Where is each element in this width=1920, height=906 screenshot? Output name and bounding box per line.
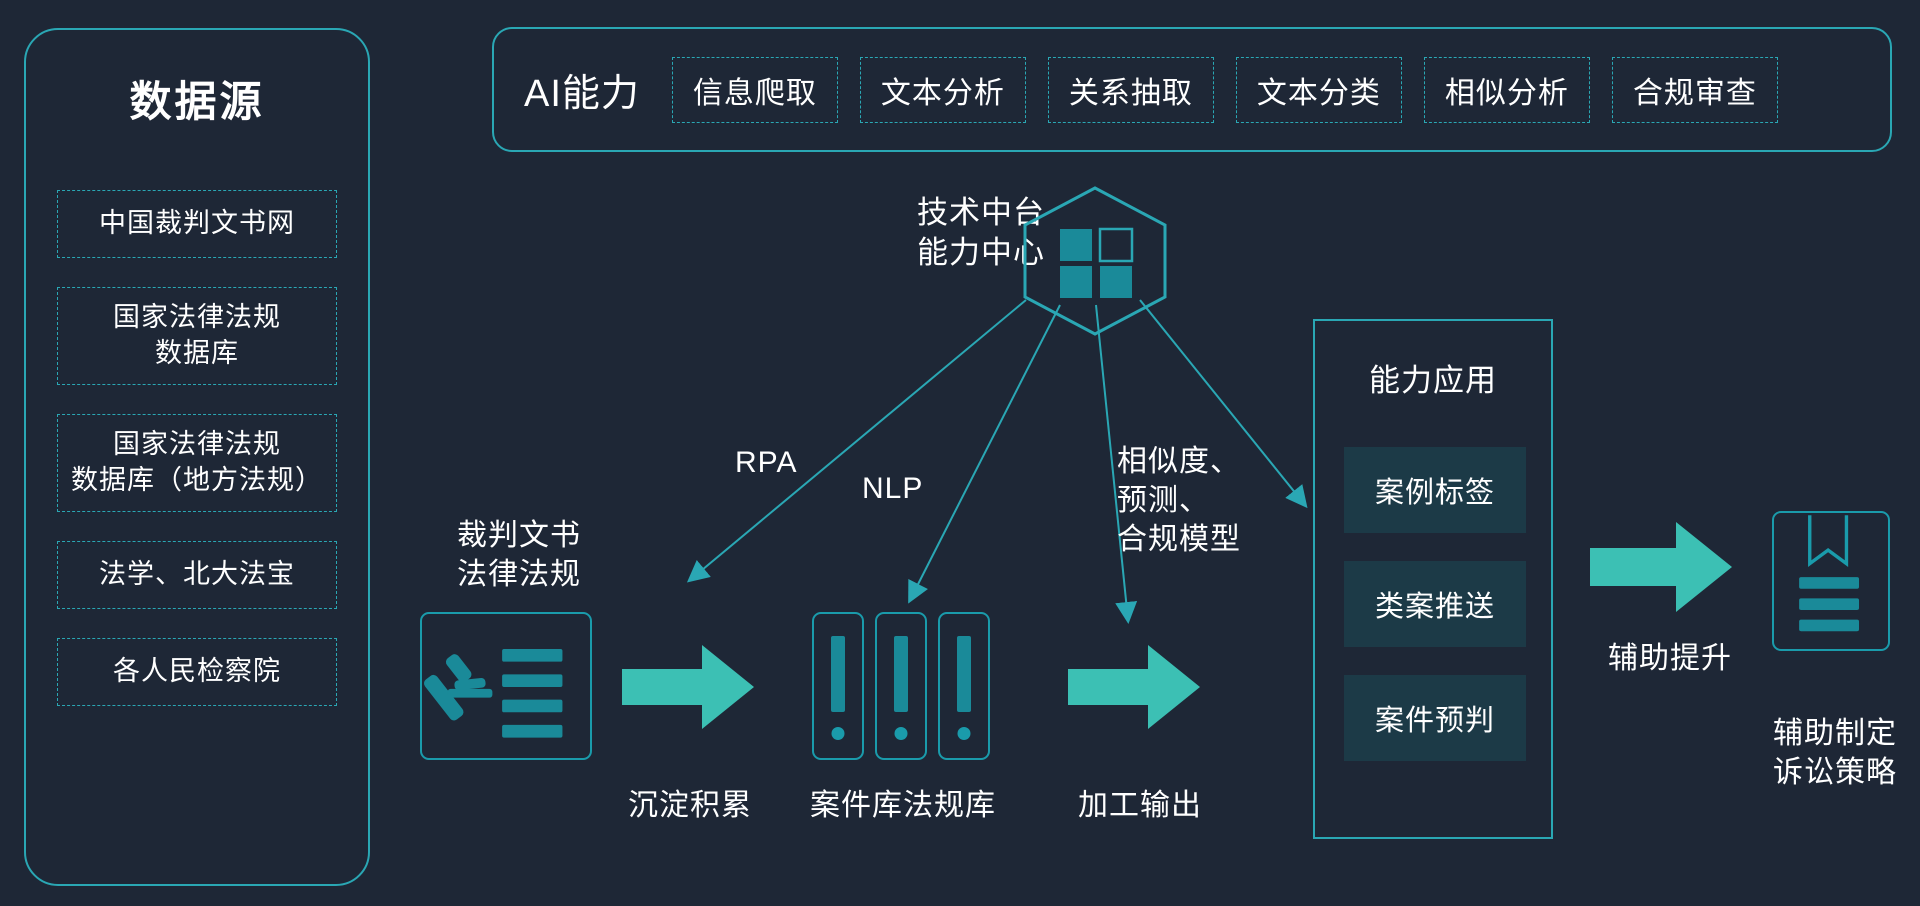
app-card-similar-case-push[interactable]: 类案推送 bbox=[1344, 561, 1526, 647]
right-arrow-icon bbox=[622, 645, 754, 729]
ai-chip-compliance-review[interactable]: 合规审查 bbox=[1612, 57, 1778, 123]
data-source-item[interactable]: 各人民检察院 bbox=[57, 638, 337, 706]
connector-label-rpa: RPA bbox=[735, 443, 797, 482]
bookmarked-document-icon bbox=[1772, 511, 1890, 651]
ai-capability-title: AI能力 bbox=[524, 62, 640, 117]
data-source-title: 数据源 bbox=[26, 68, 368, 129]
server-unit bbox=[875, 612, 927, 760]
data-source-list: 中国裁判文书网 国家法律法规数据库 国家法律法规数据库（地方法规） 法学、北大法… bbox=[57, 190, 337, 735]
capability-application-panel: 能力应用 案例标签 类案推送 案件预判 bbox=[1313, 319, 1553, 839]
data-source-item-label: 国家法律法规数据库 bbox=[113, 300, 281, 371]
processing-output-caption: 加工输出 bbox=[1065, 786, 1215, 825]
data-source-item-label: 法学、北大法宝 bbox=[99, 557, 295, 593]
right-arrow-icon bbox=[1068, 645, 1200, 729]
connector-label-nlp: NLP bbox=[862, 469, 923, 508]
ai-chip-similarity[interactable]: 相似分析 bbox=[1424, 57, 1590, 123]
accumulation-caption: 沉淀积累 bbox=[615, 786, 765, 825]
data-source-panel: 数据源 中国裁判文书网 国家法律法规数据库 国家法律法规数据库（地方法规） 法学… bbox=[24, 28, 370, 886]
ai-chip-info-crawl[interactable]: 信息爬取 bbox=[672, 57, 838, 123]
diagram-canvas: 数据源 中国裁判文书网 国家法律法规数据库 国家法律法规数据库（地方法规） 法学… bbox=[0, 0, 1920, 906]
capability-application-title: 能力应用 bbox=[1315, 355, 1551, 400]
gavel-document-icon bbox=[420, 612, 592, 760]
ai-chip-relation-extract[interactable]: 关系抽取 bbox=[1048, 57, 1214, 123]
ai-capability-bar: AI能力 信息爬取 文本分析 关系抽取 文本分类 相似分析 合规审查 bbox=[492, 27, 1892, 152]
litigation-strategy-caption: 辅助制定诉讼策略 bbox=[1740, 714, 1920, 792]
data-source-item-label: 中国裁判文书网 bbox=[99, 206, 295, 242]
assist-improve-caption: 辅助提升 bbox=[1590, 639, 1750, 678]
hexagon-four-squares-icon bbox=[1020, 185, 1170, 337]
data-source-item[interactable]: 国家法律法规数据库（地方法规） bbox=[57, 414, 337, 512]
ai-chip-text-classify[interactable]: 文本分类 bbox=[1236, 57, 1402, 123]
right-arrow-icon bbox=[1590, 522, 1732, 612]
connector-nlp bbox=[910, 305, 1060, 600]
app-card-case-prediction[interactable]: 案件预判 bbox=[1344, 675, 1526, 761]
connector-rpa bbox=[690, 300, 1026, 580]
data-source-item[interactable]: 国家法律法规数据库 bbox=[57, 287, 337, 385]
data-source-item[interactable]: 中国裁判文书网 bbox=[57, 190, 337, 258]
documents-caption: 裁判文书法律法规 bbox=[424, 516, 614, 594]
data-source-item-label: 各人民检察院 bbox=[113, 654, 281, 690]
hub-label: 技术中台能力中心 bbox=[845, 193, 1045, 272]
data-source-item[interactable]: 法学、北大法宝 bbox=[57, 541, 337, 609]
connector-label-similarity: 相似度、预测、合规模型 bbox=[1117, 442, 1241, 559]
ai-capability-chips: 信息爬取 文本分析 关系抽取 文本分类 相似分析 合规审查 bbox=[672, 57, 1800, 123]
database-caption: 案件库法规库 bbox=[798, 786, 1008, 825]
data-source-item-label: 国家法律法规数据库（地方法规） bbox=[71, 427, 323, 498]
app-card-case-tagging[interactable]: 案例标签 bbox=[1344, 447, 1526, 533]
server-unit bbox=[812, 612, 864, 760]
server-unit bbox=[938, 612, 990, 760]
server-rack-icon bbox=[812, 612, 992, 760]
ai-chip-text-analysis[interactable]: 文本分析 bbox=[860, 57, 1026, 123]
